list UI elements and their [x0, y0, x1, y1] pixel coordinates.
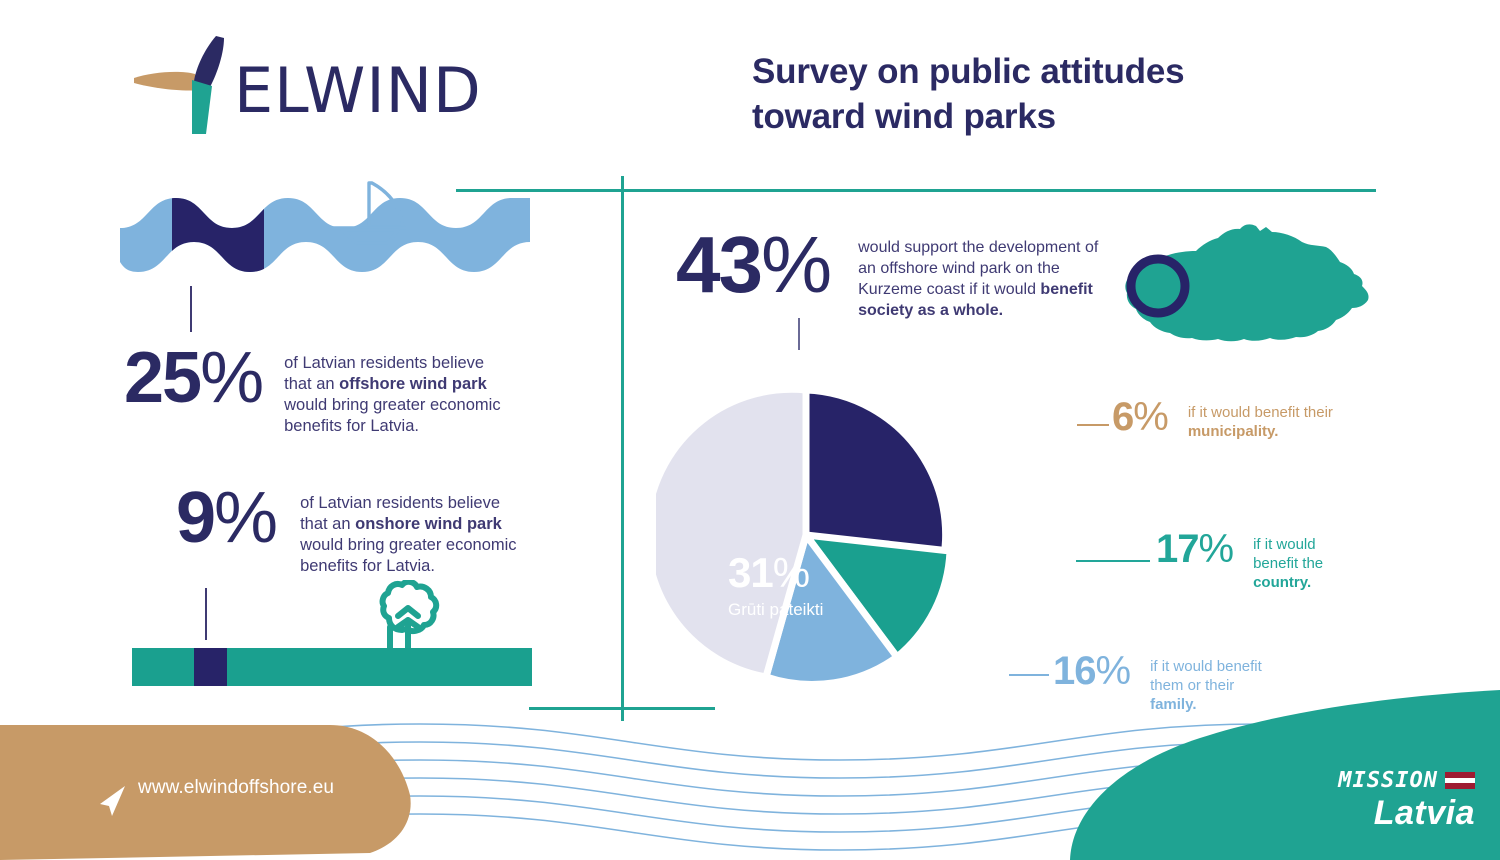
latvia-flag-icon	[1445, 772, 1475, 789]
pie-chart	[656, 330, 1116, 730]
mission-country-label: Latvia	[1300, 794, 1475, 833]
land-bar-graphic	[132, 580, 532, 690]
logo-wordmark: ELWIND	[234, 54, 482, 127]
divider-top	[456, 189, 1376, 192]
mission-top-row: MISSION	[1300, 768, 1475, 793]
cursor-arrow-icon	[98, 784, 128, 818]
leader-line-municipality	[1077, 424, 1109, 426]
legend-municipality-value: 6%	[1112, 398, 1168, 436]
leader-line-onshore	[205, 588, 207, 640]
legend-municipality: 6% if it would benefit their municipalit…	[1112, 398, 1348, 442]
mission-latvia-logo: MISSION Latvia	[1300, 768, 1475, 833]
stat-society-support: 43% would support the development of an …	[676, 228, 1102, 321]
stat-onshore-value: 9%	[176, 484, 276, 552]
legend-country-value: 17%	[1156, 530, 1233, 568]
tree-icon	[383, 582, 437, 650]
divider-vertical	[621, 176, 624, 721]
stat-society-description: would support the development of an offs…	[858, 228, 1102, 321]
leader-line-family	[1009, 674, 1049, 676]
sea-wave-graphic	[120, 180, 550, 340]
stat-offshore-value: 25%	[124, 344, 262, 412]
infographic-canvas: ELWIND Survey on public attitudes toward…	[0, 0, 1500, 860]
stat-offshore-description: of Latvian residents believe that an off…	[284, 344, 506, 437]
title-line-1: Survey on public attitudes	[752, 50, 1372, 95]
title-line-2: toward wind parks	[752, 95, 1372, 140]
leader-line-offshore	[190, 286, 192, 332]
mission-label: MISSION	[1338, 768, 1438, 793]
latvia-map	[1118, 218, 1388, 363]
stat-onshore-description: of Latvian residents believe that an ons…	[300, 484, 526, 577]
website-url[interactable]: www.elwindoffshore.eu	[138, 777, 334, 799]
leader-line-country	[1076, 560, 1150, 562]
stat-society-value: 43%	[676, 228, 830, 302]
legend-country-text: if it would benefit the country.	[1253, 530, 1363, 593]
stat-offshore-benefit: 25% of Latvian residents believe that an…	[124, 344, 506, 437]
stat-onshore-benefit: 9% of Latvian residents believe that an …	[176, 484, 526, 577]
legend-family-value: 16%	[1053, 652, 1130, 690]
legend-municipality-text: if it would benefit their municipality.	[1188, 398, 1348, 442]
elwind-logo: ELWIND	[132, 34, 462, 139]
legend-country: 17% if it would benefit the country.	[1156, 530, 1363, 593]
page-title: Survey on public attitudes toward wind p…	[752, 50, 1372, 140]
